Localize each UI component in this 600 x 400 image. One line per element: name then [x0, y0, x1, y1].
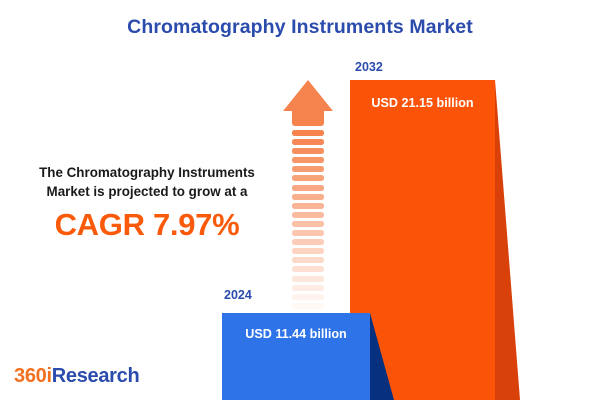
cagr-value: CAGR 7.97% — [8, 208, 286, 242]
arrow-stripe — [292, 276, 324, 282]
infographic-canvas: Chromatography Instruments Market The Ch… — [0, 0, 600, 400]
arrow-stripe — [292, 130, 324, 136]
bar-2032-value-label: USD 21.15 billion — [350, 96, 495, 110]
arrow-stripe — [292, 166, 324, 172]
brand-logo: 360iResearch — [14, 365, 139, 388]
arrow-stripe — [292, 157, 324, 163]
arrow-stripe — [292, 285, 324, 291]
arrow-stripe — [292, 175, 324, 181]
arrow-stripe — [292, 294, 324, 300]
statement-line-2: Market is projected to grow at a — [8, 182, 286, 201]
bar-2024-value-label: USD 11.44 billion — [222, 327, 370, 341]
statement-block: The Chromatography Instruments Market is… — [8, 163, 286, 242]
logo-word: Research — [52, 365, 140, 387]
arrow-stripes — [292, 130, 324, 321]
arrow-neck-icon — [292, 110, 324, 126]
arrow-stripe — [292, 248, 324, 254]
arrow-stripe — [292, 303, 324, 309]
bar-2032-side-panel — [495, 80, 520, 400]
logo-mark: 360i — [14, 365, 52, 387]
arrow-stripe — [292, 266, 324, 272]
arrow-stripe — [292, 185, 324, 191]
bar-2032-year-label: 2032 — [355, 60, 383, 74]
arrow-head-icon — [283, 80, 333, 111]
arrow-stripe — [292, 221, 324, 227]
page-title: Chromatography Instruments Market — [0, 16, 600, 39]
arrow-stripe — [292, 194, 324, 200]
arrow-stripe — [292, 212, 324, 218]
arrow-stripe — [292, 239, 324, 245]
statement-line-1: The Chromatography Instruments — [8, 163, 286, 182]
arrow-stripe — [292, 148, 324, 154]
arrow-stripe — [292, 257, 324, 263]
arrow-stripe — [292, 230, 324, 236]
arrow-stripe — [292, 139, 324, 145]
bar-2024-year-label: 2024 — [224, 288, 252, 302]
arrow-stripe — [292, 203, 324, 209]
growth-arrow-icon — [283, 80, 333, 295]
